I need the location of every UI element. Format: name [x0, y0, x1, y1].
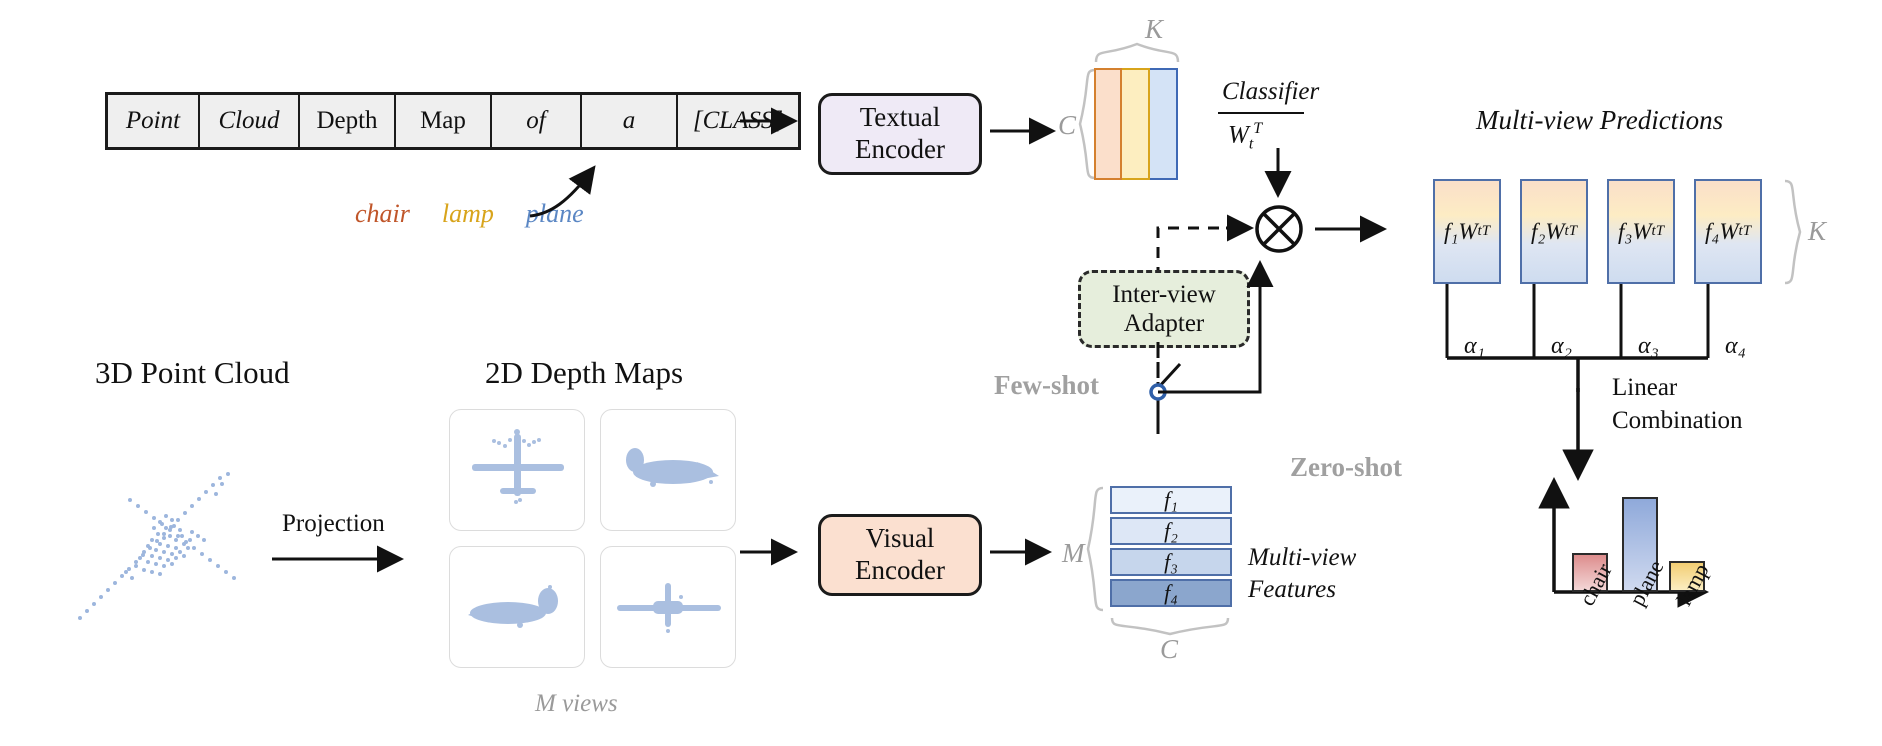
depth-maps-title: 2D Depth Maps [485, 355, 683, 391]
prediction-box-3-label: f₃W [1618, 219, 1652, 245]
depth-map-view-2 [600, 409, 736, 531]
feature-row-1: f₁ [1110, 486, 1232, 514]
predictions-brace-right [1782, 179, 1804, 285]
prediction-box-1-sup: T [1482, 223, 1490, 240]
linear-combination-label: Linear Combination [1612, 372, 1743, 437]
classifier-dim-c-label: C [1058, 110, 1076, 141]
features-caption: Multi-view Features [1248, 542, 1356, 606]
textual-encoder-box: Textual Encoder [818, 93, 982, 175]
adapter-line1: Inter-view [1112, 280, 1216, 309]
alpha-weight-3: α₃ [1638, 333, 1659, 360]
feature-row-4: f₄ [1110, 579, 1232, 607]
feature-row-3-label: f₃ [1164, 549, 1178, 575]
depth-map-view-3-visual [450, 547, 585, 668]
classifier-weight-w: W [1228, 121, 1249, 148]
features-brace-left [1086, 486, 1106, 612]
class-word-chair: chair [355, 199, 410, 229]
prompt-token-1: Cloud [200, 95, 300, 147]
feature-row-2-label: f₂ [1164, 518, 1178, 544]
depth-maps-grid [449, 409, 736, 668]
class-word-lamp: lamp [442, 199, 494, 229]
classifier-column-chair [1094, 68, 1122, 180]
point-cloud-visual [70, 440, 280, 640]
views-caption: M views [535, 690, 618, 718]
features-caption-line1: Multi-view [1248, 542, 1356, 574]
depth-map-view-2-visual [601, 410, 736, 531]
prediction-box-3-sup: T [1656, 223, 1664, 240]
prediction-box-2-sup: T [1569, 223, 1577, 240]
classifier-dim-k-label: K [1145, 14, 1163, 45]
features-dim-c-label: C [1160, 634, 1178, 665]
multi-view-predictions-row: f₁WtT f₂WtT f₃WtT f₄WtT [1433, 179, 1762, 284]
feature-row-1-label: f₁ [1164, 487, 1178, 513]
prediction-box-3: f₃WtT [1607, 179, 1675, 284]
classifier-weight-sup: T [1253, 120, 1262, 137]
prediction-bar-chart: chair plane lamp [1540, 470, 1720, 600]
classifier-column-plane [1150, 68, 1178, 180]
textual-encoder-line1: Textual [860, 102, 941, 134]
features-caption-line2: Features [1248, 574, 1356, 606]
features-brace-bottom [1110, 616, 1232, 636]
classifier-column-lamp [1122, 68, 1150, 180]
projection-label: Projection [282, 510, 385, 538]
depth-map-view-3 [449, 546, 585, 668]
depth-map-view-1-visual [450, 410, 585, 531]
prompt-token-2: Depth [300, 95, 396, 147]
classifier-label: Classifier [1222, 78, 1319, 106]
arrow-projection [272, 546, 422, 572]
alpha-weight-2: α₂ [1551, 333, 1572, 360]
prediction-box-1-label: f₁W [1444, 219, 1478, 245]
prediction-box-4-label: f₄W [1705, 219, 1739, 245]
prompt-token-3: Map [396, 95, 492, 147]
arrow-operator-to-predictions [1315, 216, 1405, 242]
classifier-weight-matrix [1094, 68, 1178, 180]
prompt-token-4: of [492, 95, 582, 147]
class-injection-arrow [520, 150, 650, 220]
classifier-brace-top [1094, 42, 1184, 64]
arrow-depth-maps-to-visual-encoder [740, 539, 810, 565]
prediction-box-2: f₂WtT [1520, 179, 1588, 284]
prompt-token-5: a [582, 95, 678, 147]
classifier-weight-symbol: WtT [1228, 120, 1262, 153]
point-cloud-title: 3D Point Cloud [95, 355, 290, 391]
inter-view-adapter-box: Inter-view Adapter [1078, 270, 1250, 348]
multi-view-features-stack: f₁ f₂ f₃ f₄ [1110, 486, 1232, 610]
prediction-box-1: f₁WtT [1433, 179, 1501, 284]
textual-encoder-line2: Encoder [855, 134, 945, 166]
feature-row-2: f₂ [1110, 517, 1232, 545]
feature-row-4-label: f₄ [1164, 580, 1178, 606]
visual-encoder-line2: Encoder [855, 555, 945, 587]
prompt-template-row: Point Cloud Depth Map of a [CLASS] [105, 92, 801, 150]
classifier-weight-sub: t [1249, 135, 1253, 152]
classifier-divider [1218, 112, 1304, 114]
prediction-box-4: f₄WtT [1694, 179, 1762, 284]
visual-encoder-box: Visual Encoder [818, 514, 982, 596]
arrow-visual-encoder-to-features [990, 539, 1070, 565]
depth-map-view-4-visual [601, 547, 736, 668]
predictions-title: Multi-view Predictions [1476, 105, 1723, 136]
linear-combination-line1: Linear [1612, 372, 1743, 405]
predictions-dim-k-label: K [1808, 216, 1826, 247]
feature-row-3: f₃ [1110, 548, 1232, 576]
depth-map-view-1 [449, 409, 585, 531]
prediction-box-2-label: f₂W [1531, 219, 1565, 245]
prediction-box-4-sup: T [1743, 223, 1751, 240]
visual-encoder-line1: Visual [866, 523, 935, 555]
arrow-prompt-to-textual-encoder [740, 108, 810, 134]
linear-combination-line2: Combination [1612, 405, 1743, 438]
adapter-line2: Adapter [1124, 309, 1205, 338]
few-shot-label: Few-shot [994, 370, 1099, 401]
mode-switch-and-zero-shot-route [1140, 342, 1320, 492]
depth-map-view-4 [600, 546, 736, 668]
arrow-features-to-operator [1247, 258, 1273, 398]
alpha-weight-1: α₁ [1464, 333, 1485, 360]
alpha-weight-4: α₄ [1725, 333, 1746, 360]
prompt-token-0: Point [108, 95, 200, 147]
